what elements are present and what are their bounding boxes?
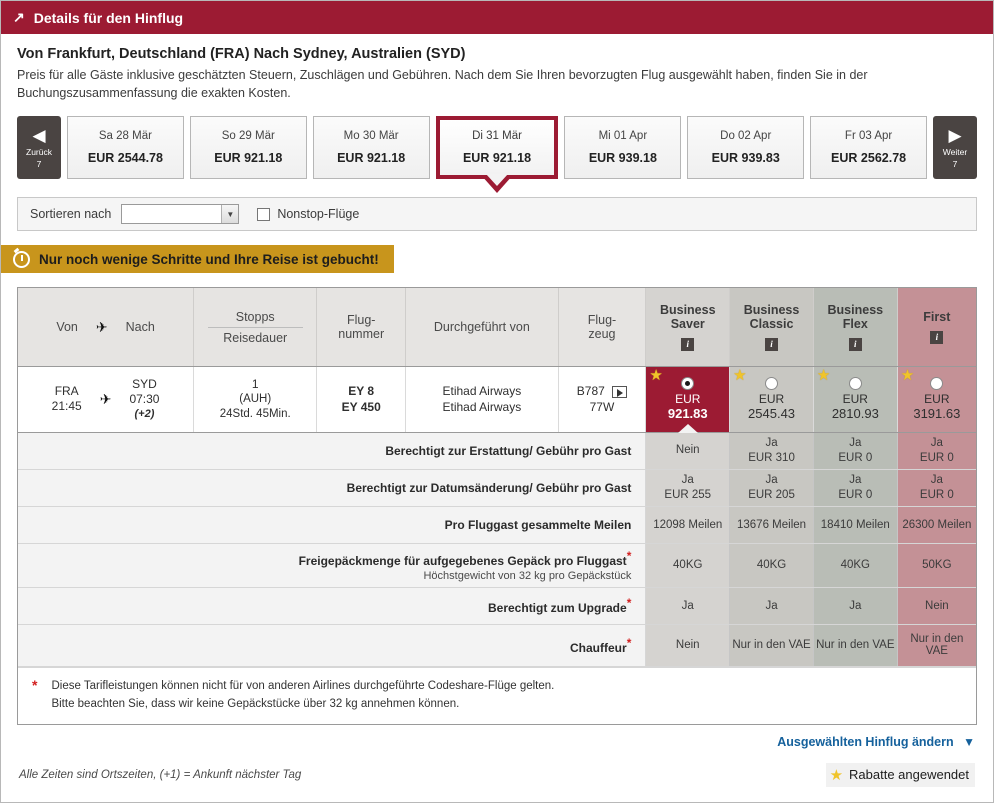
feature-value-classic: 40KG <box>730 543 814 587</box>
feature-label-text: Berechtigt zum Upgrade <box>488 601 627 615</box>
feature-value-flex: Ja EUR 0 <box>813 469 897 506</box>
feature-row-upgrade: Berechtigt zum Upgrade* Ja Ja Ja Nein <box>18 587 976 624</box>
header-fare-business-saver: Business Saver i <box>646 288 730 366</box>
origin-code: FRA <box>52 384 82 399</box>
feature-value-line2: EUR 205 <box>730 488 813 503</box>
feature-value-first: Nein <box>897 587 976 624</box>
feature-label-text: Berechtigt zur Datumsänderung/ Gebühr pr… <box>347 481 632 495</box>
feature-label-text: Freigepäckmenge für aufgegebenes Gepäck … <box>299 554 627 568</box>
date-cell-2[interactable]: Mo 30 Mär EUR 921.18 <box>313 116 430 179</box>
feature-value-line1: Nein <box>646 443 729 458</box>
airplane-icon: ✈ <box>100 391 112 408</box>
feature-value-line2: EUR 0 <box>898 451 976 466</box>
price-currency: EUR <box>646 392 729 406</box>
feature-value-saver: 40KG <box>646 543 730 587</box>
header-from-to: Von ✈ Nach <box>18 288 194 366</box>
price-currency: EUR <box>814 392 897 406</box>
price-note: Preis für alle Gäste inklusive geschätzt… <box>17 66 947 102</box>
date-cell-5[interactable]: Do 02 Apr EUR 939.83 <box>687 116 804 179</box>
feature-label: Pro Fluggast gesammelte Meilen <box>18 506 646 543</box>
chevron-down-icon: ▼ <box>963 735 975 749</box>
chevron-left-icon: ◀ <box>32 129 45 143</box>
flight-number-1: EY 8 <box>317 383 405 399</box>
sort-label: Sortieren nach <box>30 207 111 221</box>
feature-value-flex: Ja EUR 0 <box>813 432 897 469</box>
feature-row-chauffeur: Chauffeur* Nein Nur in den VAE Nur in de… <box>18 624 976 666</box>
discount-applied-badge: ★ Rabatte angewendet <box>826 763 975 787</box>
fare-name-line1: Business <box>730 303 813 317</box>
next-dates-button[interactable]: ▶ Weiter 7 <box>933 116 977 179</box>
flight-route-cell: FRA 21:45 ✈ SYD 07:30 (+2) <box>18 366 194 432</box>
header-flightnumber-line2: nummer <box>317 327 405 341</box>
feature-value-classic: 13676 Meilen <box>730 506 814 543</box>
header-aircraft-line2: zeug <box>559 327 646 341</box>
fare-radio-business-classic[interactable] <box>765 377 778 390</box>
feature-value-flex: Nur in den VAE <box>813 624 897 666</box>
feature-label-text: Chauffeur <box>570 641 627 655</box>
destination-code: SYD <box>129 377 159 392</box>
price-cell-business-classic[interactable]: ★ EUR 2545.43 <box>730 366 814 432</box>
feature-value-line1: Ja <box>898 473 976 488</box>
fare-name-line1: First <box>898 310 976 324</box>
feature-value-first: 26300 Meilen <box>897 506 976 543</box>
table-footnote: * Diese Tarifleistungen können nicht für… <box>18 667 976 724</box>
fare-radio-business-flex[interactable] <box>849 377 862 390</box>
feature-value-saver: Ja <box>646 587 730 624</box>
feature-value-line2: EUR 310 <box>730 451 813 466</box>
sort-bar: Sortieren nach ▼ Nonstop-Flüge <box>17 197 977 231</box>
feature-value-flex: 40KG <box>813 543 897 587</box>
date-day: Mo 30 Mär <box>344 130 399 142</box>
star-icon: ★ <box>649 368 662 383</box>
prev-dates-label: Zurück <box>26 148 52 157</box>
feature-label: Berechtigt zum Upgrade* <box>18 587 646 624</box>
header-flightnumber-line1: Flug- <box>317 313 405 327</box>
origin-time: 21:45 <box>52 399 82 414</box>
date-selector-strip: ◀ Zurück 7 Sa 28 Mär EUR 2544.78 So 29 M… <box>1 106 993 179</box>
feature-value-saver: Nein <box>646 624 730 666</box>
feature-row-miles: Pro Fluggast gesammelte Meilen 12098 Mei… <box>18 506 976 543</box>
arrow-northeast-icon: ↗ <box>13 10 25 24</box>
local-times-note: Alle Zeiten sind Ortszeiten, (+1) = Anku… <box>19 769 301 781</box>
feature-value-first: 50KG <box>897 543 976 587</box>
date-price: EUR 921.18 <box>214 151 282 165</box>
header-flightnumber: Flug- nummer <box>317 288 406 366</box>
sort-select-value <box>122 205 221 223</box>
selected-date-pointer-inner <box>486 174 508 186</box>
aircraft-cell: B787 77W <box>558 366 646 432</box>
feature-row-baggage: Freigepäckmenge für aufgegebenes Gepäck … <box>18 543 976 587</box>
flight-stops-cell: 1 (AUH) 24Std. 45Min. <box>194 366 317 432</box>
progress-banner-text: Nur noch wenige Schritte und Ihre Reise … <box>39 252 379 267</box>
asterisk-marker: * <box>32 677 37 714</box>
origin-block: FRA 21:45 <box>52 384 82 414</box>
footnote-line-1: Diese Tarifleistungen können nicht für v… <box>51 677 554 695</box>
stops-count: 1 <box>194 377 316 392</box>
chevron-right-icon: ▶ <box>948 129 961 143</box>
feature-value-first: Ja EUR 0 <box>897 469 976 506</box>
header-fare-business-flex: Business Flex i <box>813 288 897 366</box>
bottom-row: Alle Zeiten sind Ortszeiten, (+1) = Anku… <box>19 763 975 787</box>
date-day: Sa 28 Mär <box>99 130 152 142</box>
feature-value-line2: EUR 255 <box>646 488 729 503</box>
asterisk-marker: * <box>627 549 632 563</box>
intro-block: Von Frankfurt, Deutschland (FRA) Nach Sy… <box>1 34 993 106</box>
feature-value-first: Ja EUR 0 <box>897 432 976 469</box>
next-dates-count: 7 <box>953 160 958 169</box>
header-fare-business-classic: Business Classic i <box>730 288 814 366</box>
date-day: Do 02 Apr <box>720 130 771 142</box>
flight-number-cell: EY 8 EY 450 <box>317 366 406 432</box>
header-from-label: Von <box>56 320 78 334</box>
date-cell-0[interactable]: Sa 28 Mär EUR 2544.78 <box>67 116 184 179</box>
date-price: EUR 921.18 <box>463 151 531 165</box>
footnote-line-2: Bitte beachten Sie, dass wir keine Gepäc… <box>51 695 554 713</box>
feature-value-saver: 12098 Meilen <box>646 506 730 543</box>
flight-row: FRA 21:45 ✈ SYD 07:30 (+2) 1 <box>18 366 976 432</box>
nonstop-label: Nonstop-Flüge <box>277 207 359 221</box>
info-icon[interactable]: i <box>681 338 694 351</box>
price-amount: 921.83 <box>646 406 729 421</box>
date-cell-6[interactable]: Fr 03 Apr EUR 2562.78 <box>810 116 927 179</box>
date-day: Di 31 Mär <box>472 130 522 142</box>
change-outbound-flight-label: Ausgewählten Hinflug ändern <box>777 735 953 749</box>
date-price: EUR 939.18 <box>589 151 657 165</box>
date-day: Mi 01 Apr <box>599 130 648 142</box>
feature-label-text: Berechtigt zur Erstattung/ Gebühr pro Ga… <box>385 444 631 458</box>
fare-name-line2: Flex <box>814 317 897 331</box>
feature-value-line1: Ja <box>646 473 729 488</box>
aircraft-2: 77W <box>559 399 646 415</box>
date-day: So 29 Mär <box>222 130 275 142</box>
header-operated-by: Durchgeführt von <box>406 288 558 366</box>
aircraft-1: B787 <box>577 384 605 398</box>
header-fare-first: First i <box>897 288 976 366</box>
date-cell-3-selected[interactable]: Di 31 Mär EUR 921.18 <box>436 116 559 179</box>
feature-label: Freigepäckmenge für aufgegebenes Gepäck … <box>18 543 646 587</box>
stopwatch-icon <box>13 251 30 268</box>
feature-label: Berechtigt zur Erstattung/ Gebühr pro Ga… <box>18 432 646 469</box>
feature-value-line1: Ja <box>730 436 813 451</box>
date-price: EUR 2562.78 <box>831 151 906 165</box>
feature-value-line1: Ja <box>814 473 897 488</box>
operator-1: Etihad Airways <box>406 383 557 399</box>
selected-fare-pointer <box>678 424 698 433</box>
route-heading: Von Frankfurt, Deutschland (FRA) Nach Sy… <box>17 46 977 62</box>
feature-value-line2: EUR 0 <box>898 488 976 503</box>
asterisk-marker: * <box>627 596 632 610</box>
feature-value-classic: Nur in den VAE <box>730 624 814 666</box>
feature-value-flex: Ja <box>813 587 897 624</box>
date-cells: Sa 28 Mär EUR 2544.78 So 29 Mär EUR 921.… <box>67 116 927 179</box>
fare-name-line1: Business <box>814 303 897 317</box>
feature-value-line2: EUR 0 <box>814 451 897 466</box>
next-dates-label: Weiter <box>943 148 967 157</box>
change-outbound-flight-link[interactable]: Ausgewählten Hinflug ändern ▼ <box>19 735 975 749</box>
feature-label-text: Pro Fluggast gesammelte Meilen <box>445 518 632 532</box>
info-icon[interactable]: i <box>849 338 862 351</box>
fare-radio-first[interactable] <box>930 377 943 390</box>
price-currency: EUR <box>730 392 813 406</box>
date-price: EUR 921.18 <box>337 151 405 165</box>
prev-dates-button[interactable]: ◀ Zurück 7 <box>17 116 61 179</box>
page-title: Details für den Hinflug <box>34 10 183 26</box>
price-amount: 2810.93 <box>814 406 897 421</box>
date-day: Fr 03 Apr <box>845 130 892 142</box>
feature-label: Chauffeur* <box>18 624 646 666</box>
info-icon[interactable]: i <box>765 338 778 351</box>
price-cell-business-flex[interactable]: ★ EUR 2810.93 <box>813 366 897 432</box>
header-duration-label: Reisedauer <box>194 331 316 345</box>
feature-label: Berechtigt zur Datumsänderung/ Gebühr pr… <box>18 469 646 506</box>
header-stops-label: Stopps <box>194 310 316 327</box>
destination-block: SYD 07:30 (+2) <box>129 377 159 422</box>
feature-value-flex: 18410 Meilen <box>813 506 897 543</box>
footnote-text: Diese Tarifleistungen können nicht für v… <box>51 677 554 714</box>
chevron-down-icon: ▼ <box>221 205 238 223</box>
star-icon: ★ <box>901 368 914 383</box>
progress-banner: Nur noch wenige Schritte und Ihre Reise … <box>1 245 394 273</box>
price-currency: EUR <box>898 392 976 406</box>
stop-airports: (AUH) <box>194 392 316 407</box>
fare-name-line1: Business <box>646 303 729 317</box>
header-aircraft: Flug- zeug <box>558 288 646 366</box>
header-to-label: Nach <box>126 320 155 334</box>
feature-row-datechange: Berechtigt zur Datumsänderung/ Gebühr pr… <box>18 469 976 506</box>
star-icon: ★ <box>733 368 746 383</box>
prev-dates-count: 7 <box>37 160 42 169</box>
price-amount: 2545.43 <box>730 406 813 421</box>
feature-value-line1: Ja <box>730 473 813 488</box>
date-price: EUR 939.83 <box>712 151 780 165</box>
asterisk-marker: * <box>627 636 632 650</box>
feature-value-classic: Ja EUR 310 <box>730 432 814 469</box>
feature-value-line1: Ja <box>814 436 897 451</box>
table-header-row: Von ✈ Nach Stopps Reisedauer Flug- numme… <box>18 288 976 366</box>
fare-name-line2: Saver <box>646 317 729 331</box>
destination-time: 07:30 <box>129 392 159 407</box>
fare-radio-business-saver[interactable] <box>681 377 694 390</box>
price-amount: 3191.63 <box>898 406 976 421</box>
header-aircraft-line1: Flug- <box>559 313 646 327</box>
flight-details-page: ↗ Details für den Hinflug Von Frankfurt,… <box>0 0 994 803</box>
fare-table: Von ✈ Nach Stopps Reisedauer Flug- numme… <box>17 287 977 724</box>
sort-select[interactable]: ▼ <box>121 204 239 224</box>
flight-number-2: EY 450 <box>317 399 405 415</box>
operated-by-cell: Etihad Airways Etihad Airways <box>406 366 558 432</box>
bottom-area: Ausgewählten Hinflug ändern ▼ Alle Zeite… <box>1 725 993 787</box>
destination-day-offset: (+2) <box>129 407 159 422</box>
nonstop-checkbox-wrapper[interactable]: Nonstop-Flüge <box>257 207 359 221</box>
discount-applied-label: Rabatte angewendet <box>849 767 969 782</box>
feature-value-saver: Ja EUR 255 <box>646 469 730 506</box>
feature-value-classic: Ja EUR 205 <box>730 469 814 506</box>
play-icon[interactable] <box>612 386 627 398</box>
airplane-icon: ✈ <box>96 319 108 336</box>
date-price: EUR 2544.78 <box>88 151 163 165</box>
header-stops-duration: Stopps Reisedauer <box>194 288 317 366</box>
header-divider <box>208 327 303 328</box>
info-icon[interactable]: i <box>930 331 943 344</box>
feature-value-first: Nur in den VAE <box>897 624 976 666</box>
feature-value-line2: EUR 0 <box>814 488 897 503</box>
feature-value-saver: Nein <box>646 432 730 469</box>
flight-duration: 24Std. 45Min. <box>194 407 316 422</box>
star-icon: ★ <box>830 766 843 784</box>
feature-value-classic: Ja <box>730 587 814 624</box>
feature-row-refund: Berechtigt zur Erstattung/ Gebühr pro Ga… <box>18 432 976 469</box>
date-cell-1[interactable]: So 29 Mär EUR 921.18 <box>190 116 307 179</box>
date-cell-4[interactable]: Mi 01 Apr EUR 939.18 <box>564 116 681 179</box>
price-cell-first[interactable]: ★ EUR 3191.63 <box>897 366 976 432</box>
fare-name-line2: Classic <box>730 317 813 331</box>
panel-titlebar: ↗ Details für den Hinflug <box>1 1 993 34</box>
star-icon: ★ <box>817 368 830 383</box>
feature-sublabel: Höchstgewicht von 32 kg pro Gepäckstück <box>18 570 631 582</box>
price-cell-business-saver[interactable]: ★ EUR 921.83 <box>646 366 730 432</box>
feature-value-line1: Ja <box>898 436 976 451</box>
nonstop-checkbox[interactable] <box>257 208 270 221</box>
operator-2: Etihad Airways <box>406 399 557 415</box>
